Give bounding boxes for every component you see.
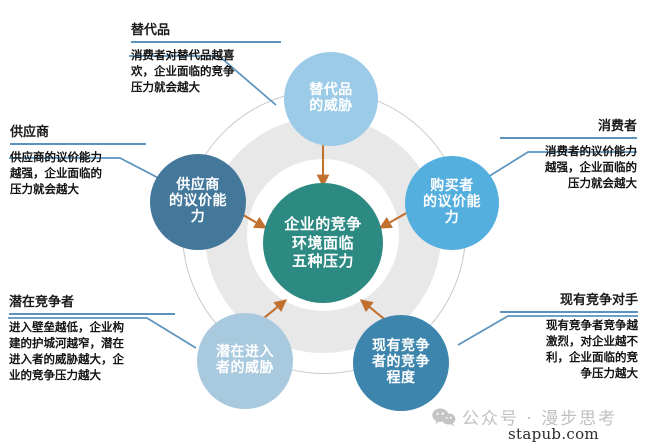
site-url: stapub.com [508,425,599,443]
callout-rivalry-title: 现有竞争对手 [500,294,638,308]
callout-line: 越强，企业面临的 [10,166,146,182]
node-rivalry-label: 现有竞争者的竞争程度 [368,339,434,386]
callout-new-entrants-rule [9,313,175,315]
callout-new-entrants-body: 进入壁垒越低，企业构 建的护城河越窄，潜在 进入者的威胁越大，企 业的竞争压力越… [9,320,175,383]
diagram-canvas: 企业的竞争环境面临五种压力 替代品的威胁 供应商的议价能力 购买者的议价能力 潜… [0,0,646,446]
callout-line: 消费者对替代品越喜 [131,48,281,64]
node-suppliers-label: 供应商的议价能力 [165,178,231,225]
callout-line: 激烈，对企业越不 [500,334,638,350]
node-bargaining-power-of-suppliers[interactable]: 供应商的议价能力 [150,154,246,250]
callout-line: 供应商的议价能力 [10,150,146,166]
callout-buyers-rule [500,137,637,139]
callout-buyers-title: 消费者 [500,120,637,134]
callout-buyers: 消费者 消费者的议价能力 越强，企业面临的 压力就会越大 [500,120,637,192]
node-substitutes-label: 替代品的威胁 [305,83,357,114]
callout-line: 压力就会越大 [10,182,146,198]
callout-suppliers-body: 供应商的议价能力 越强，企业面临的 压力就会越大 [10,150,146,198]
callout-line: 越强，企业面临的 [500,160,637,176]
callout-line: 业的竞争压力越大 [9,368,175,384]
callout-suppliers-rule [10,143,146,145]
node-new-entrants-label: 潜在进入者的威胁 [212,345,278,376]
wechat-icon [432,408,456,426]
callout-suppliers: 供应商 供应商的议价能力 越强，企业面临的 压力就会越大 [10,126,146,198]
node-threat-of-substitutes[interactable]: 替代品的威胁 [284,52,378,146]
callout-rivalry-body: 现有竞争者竞争越 激烈，对企业越不 利，企业面临的竞 争压力越大 [500,318,638,381]
callout-line: 建的护城河越窄，潜在 [9,336,175,352]
callout-line: 欢，企业面临的竞争 [131,64,281,80]
callout-line: 现有竞争者竞争越 [500,318,638,334]
node-center-label: 企业的竞争环境面临五种压力 [280,215,366,271]
callout-substitutes: 替代品 消费者对替代品越喜 欢，企业面临的竞争 压力就会越大 [131,24,281,96]
callout-suppliers-title: 供应商 [10,126,146,140]
callout-line: 进入壁垒越低，企业构 [9,320,175,336]
callout-substitutes-rule [131,41,281,43]
callout-new-entrants-title: 潜在竞争者 [9,296,175,310]
callout-line: 争压力越大 [500,366,638,382]
node-threat-of-new-entrants[interactable]: 潜在进入者的威胁 [197,313,293,409]
callout-rivalry: 现有竞争对手 现有竞争者竞争越 激烈，对企业越不 利，企业面临的竞 争压力越大 [500,294,638,382]
callout-new-entrants: 潜在竞争者 进入壁垒越低，企业构 建的护城河越窄，潜在 进入者的威胁越大，企 业… [9,296,175,384]
callout-substitutes-title: 替代品 [131,24,281,38]
node-center-core-message[interactable]: 企业的竞争环境面临五种压力 [263,183,383,303]
node-competitive-rivalry[interactable]: 现有竞争者的竞争程度 [353,315,449,411]
callout-line: 压力就会越大 [131,80,281,96]
callout-buyers-body: 消费者的议价能力 越强，企业面临的 压力就会越大 [500,144,637,192]
callout-line: 进入者的威胁越大，企 [9,352,175,368]
node-buyers-label: 购买者的议价能力 [419,179,485,226]
callout-line: 压力就会越大 [500,176,637,192]
callout-substitutes-body: 消费者对替代品越喜 欢，企业面临的竞争 压力就会越大 [131,48,281,96]
callout-line: 消费者的议价能力 [500,144,637,160]
callout-rivalry-rule [500,311,638,313]
callout-line: 利，企业面临的竞 [500,350,638,366]
node-bargaining-power-of-buyers[interactable]: 购买者的议价能力 [405,156,499,250]
